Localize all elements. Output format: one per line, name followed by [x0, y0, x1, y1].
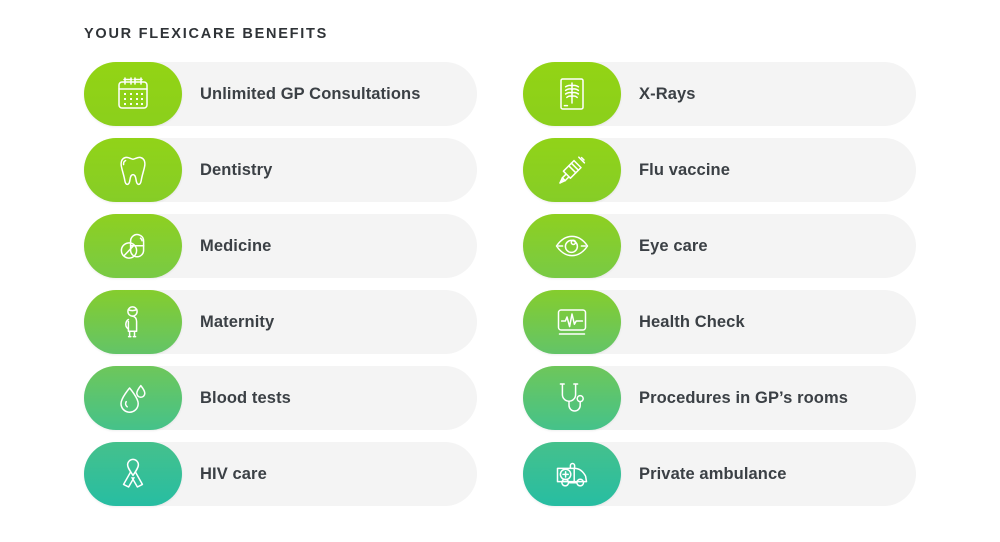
benefit-icon-badge	[523, 290, 621, 354]
benefit-icon-badge	[523, 442, 621, 506]
page-title: YOUR FLEXICARE BENEFITS	[84, 26, 328, 42]
benefit-row[interactable]: Flu vaccine	[523, 138, 916, 202]
benefit-icon-badge	[84, 366, 182, 430]
xray-icon	[550, 72, 594, 116]
benefits-page: YOUR FLEXICARE BENEFITS	[0, 0, 1000, 542]
benefit-label: Procedures in GP’s rooms	[639, 389, 848, 408]
heart-monitor-icon	[550, 300, 594, 344]
calendar-icon	[111, 72, 155, 116]
benefit-row[interactable]: Procedures in GP’s rooms	[523, 366, 916, 430]
benefit-row[interactable]: Medicine	[84, 214, 477, 278]
eye-icon	[550, 224, 594, 268]
benefit-row[interactable]: X-Rays	[523, 62, 916, 126]
benefit-label: X-Rays	[639, 85, 696, 104]
blood-drop-icon	[111, 376, 155, 420]
benefit-row[interactable]: Eye care	[523, 214, 916, 278]
benefit-icon-badge	[84, 214, 182, 278]
tooth-icon	[111, 148, 155, 192]
benefit-label: Medicine	[200, 237, 271, 256]
benefit-row[interactable]: Unlimited GP Consultations	[84, 62, 477, 126]
ambulance-icon	[550, 452, 594, 496]
right-column: X-Rays	[523, 62, 916, 506]
benefit-label: HIV care	[200, 465, 267, 484]
stethoscope-icon	[550, 376, 594, 420]
benefits-columns: Unlimited GP Consultations Dentistry	[84, 62, 916, 506]
benefit-icon-badge	[84, 62, 182, 126]
benefit-label: Maternity	[200, 313, 274, 332]
benefit-icon-badge	[523, 138, 621, 202]
benefit-label: Flu vaccine	[639, 161, 730, 180]
benefit-label: Health Check	[639, 313, 745, 332]
benefit-row[interactable]: Dentistry	[84, 138, 477, 202]
benefit-row[interactable]: Blood tests	[84, 366, 477, 430]
benefit-label: Private ambulance	[639, 465, 787, 484]
pills-icon	[111, 224, 155, 268]
benefit-row[interactable]: Maternity	[84, 290, 477, 354]
benefit-row[interactable]: Health Check	[523, 290, 916, 354]
benefit-label: Eye care	[639, 237, 708, 256]
pregnant-woman-icon	[111, 300, 155, 344]
benefit-icon-badge	[84, 442, 182, 506]
benefit-icon-badge	[84, 138, 182, 202]
benefit-icon-badge	[523, 214, 621, 278]
benefit-label: Unlimited GP Consultations	[200, 85, 420, 104]
syringe-icon	[550, 148, 594, 192]
benefit-row[interactable]: Private ambulance	[523, 442, 916, 506]
benefit-icon-badge	[84, 290, 182, 354]
awareness-ribbon-icon	[111, 452, 155, 496]
benefit-row[interactable]: HIV care	[84, 442, 477, 506]
benefit-label: Dentistry	[200, 161, 272, 180]
left-column: Unlimited GP Consultations Dentistry	[84, 62, 477, 506]
benefit-icon-badge	[523, 366, 621, 430]
benefit-icon-badge	[523, 62, 621, 126]
benefit-label: Blood tests	[200, 389, 291, 408]
